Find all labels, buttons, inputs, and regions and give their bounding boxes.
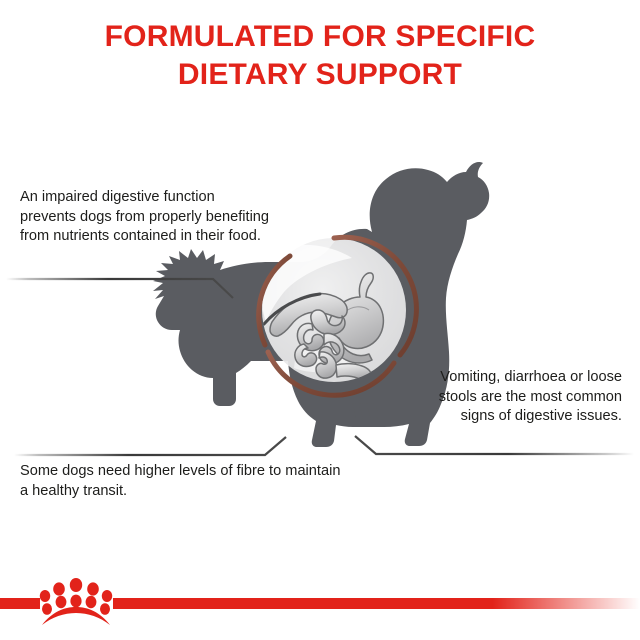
callout-impaired-digestion: An impaired digestive function prevents … xyxy=(20,188,270,247)
footer-brand-bar xyxy=(0,568,640,640)
brand-bar-left xyxy=(0,598,40,609)
illustration-canvas xyxy=(0,0,640,640)
callout-digestive-signs: Vomiting, diarrhoea or loose stools are … xyxy=(422,368,622,427)
callout-fibre-transit: Some dogs need higher levels of fibre to… xyxy=(20,462,350,501)
brand-bar-right xyxy=(113,598,640,609)
royal-canin-crown-paw-logo xyxy=(40,578,112,625)
connector-right xyxy=(355,436,634,454)
promo-panel: FORMULATED FOR SPECIFIC DIETARY SUPPORT xyxy=(0,0,640,640)
connector-bottom-left xyxy=(14,437,286,455)
